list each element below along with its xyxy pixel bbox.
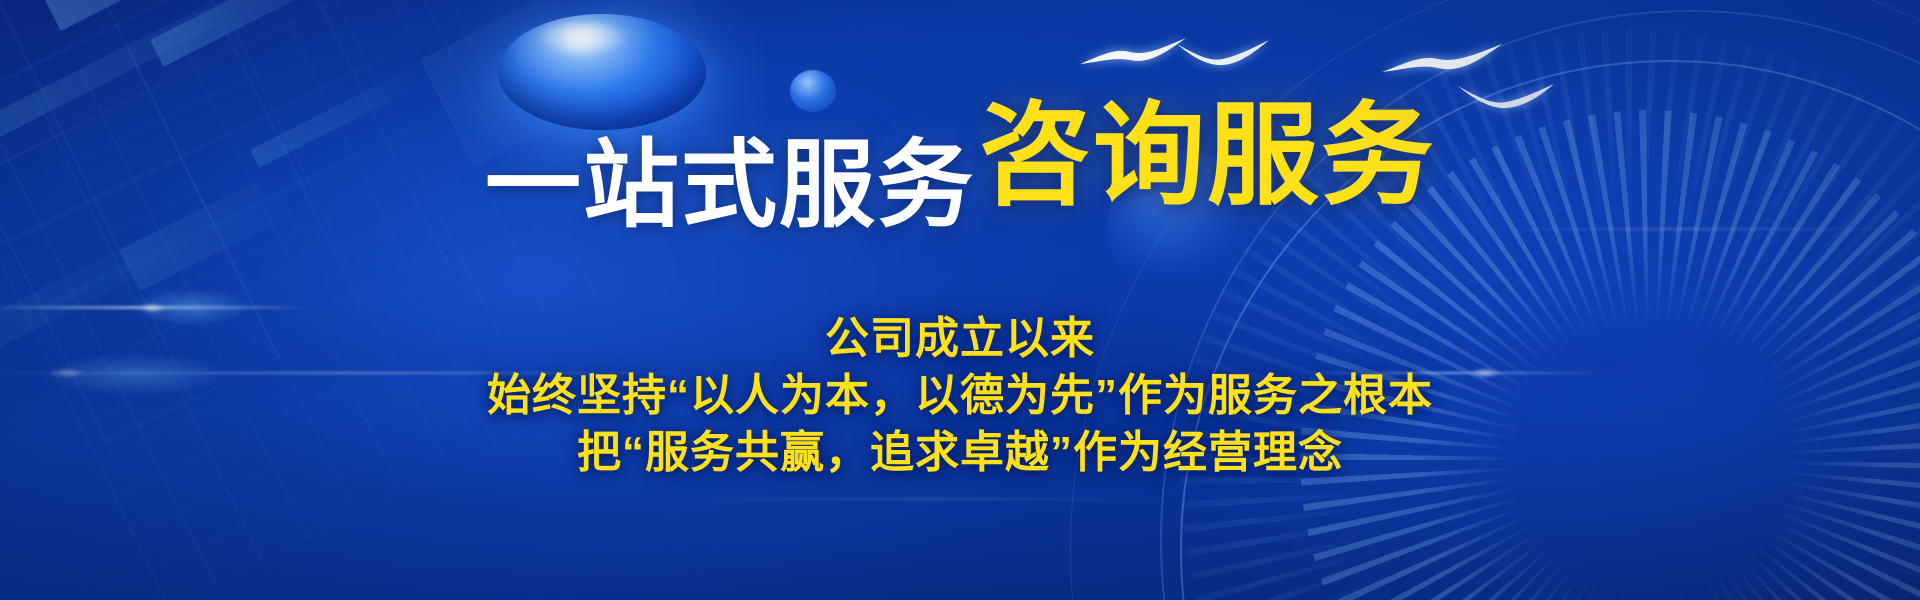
light-streak: [660, 498, 1180, 500]
subtitle-line-3: 把“服务共赢，追求卓越”作为经营理念: [577, 424, 1343, 481]
seagull-icon: [1078, 36, 1188, 70]
subtitle-line-2: 始终坚持“以人为本，以德为先”作为服务之根本: [487, 367, 1433, 424]
seagull-icon: [1175, 38, 1271, 68]
headline-primary: 一站式服务: [485, 138, 975, 234]
promo-banner: 一站式服务 咨询服务 公司成立以来 始终坚持“以人为本，以德为先”作为服务之根本…: [0, 0, 1920, 600]
subtitle-group: 公司成立以来 始终坚持“以人为本，以德为先”作为服务之根本 把“服务共赢，追求卓…: [0, 310, 1920, 482]
orb-highlight: [534, 22, 630, 58]
headline-group: 一站式服务 咨询服务: [0, 74, 1920, 234]
headline-accent: 咨询服务: [979, 100, 1435, 212]
subtitle-line-1: 公司成立以来: [825, 310, 1095, 367]
